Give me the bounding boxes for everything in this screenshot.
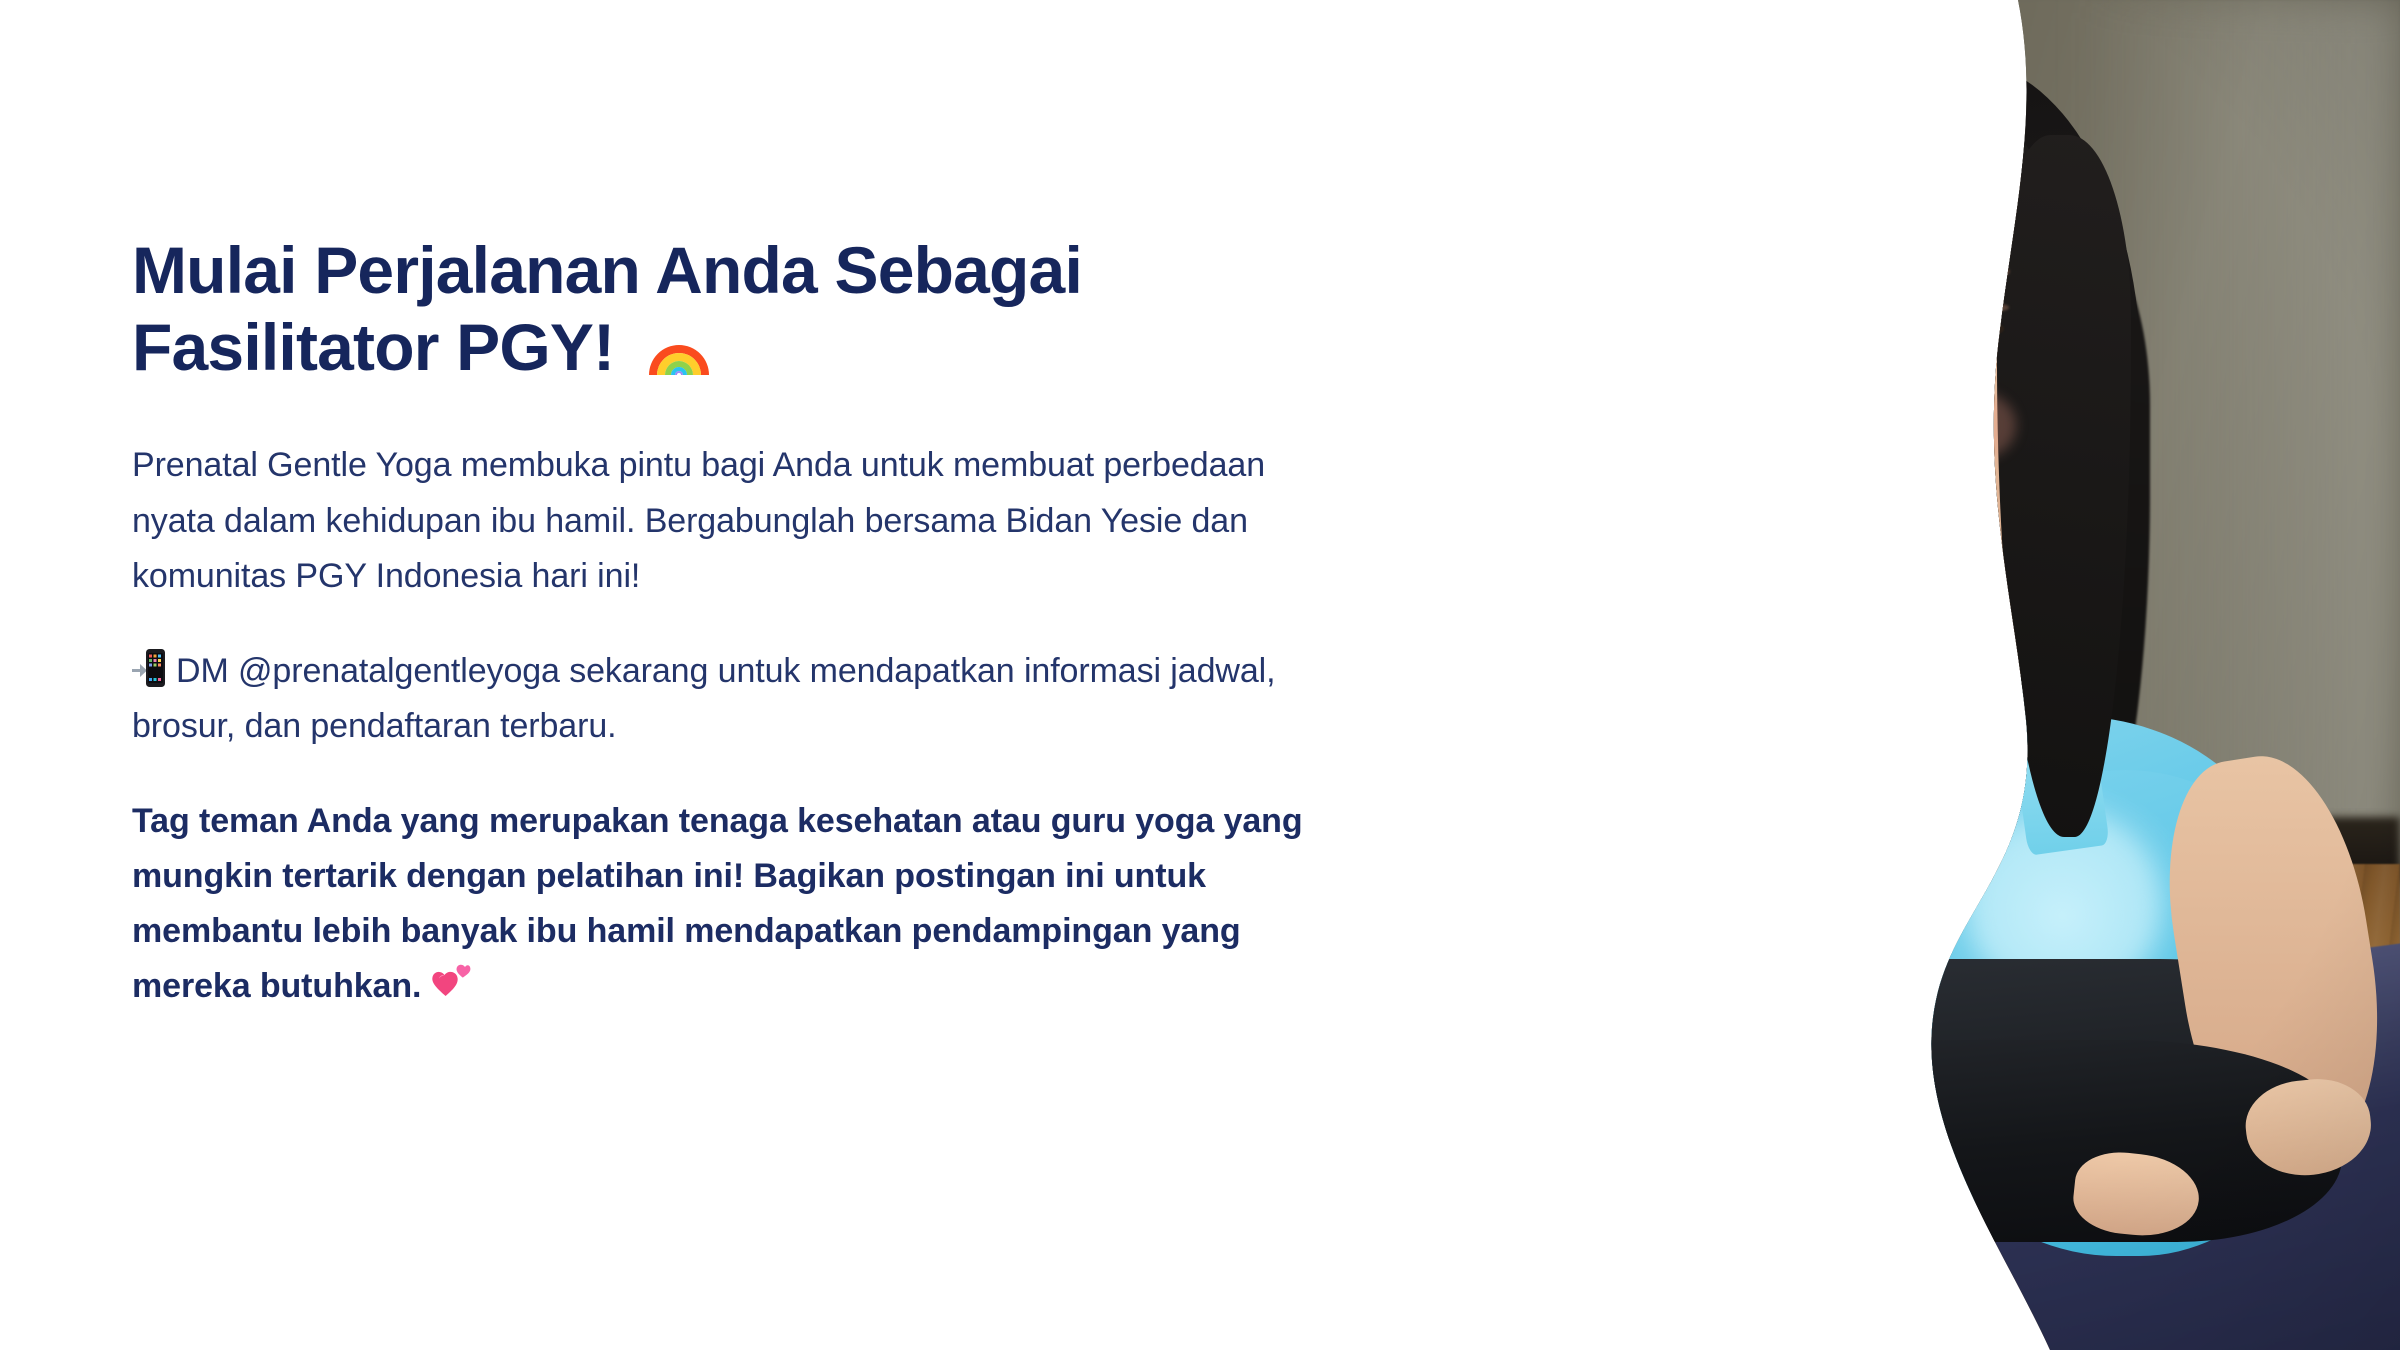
face-shadow: [1810, 163, 1883, 581]
rainbow-icon: [646, 314, 712, 366]
slide-root: Mulai Perjalanan Anda Sebagai Fasilitato…: [0, 0, 2400, 1350]
chin-shadow: [1872, 520, 1968, 561]
headline-line-1: Mulai Perjalanan Anda Sebagai: [132, 233, 1082, 307]
legging-fold: [1632, 1067, 1805, 1094]
floor-shadow-strip: [1440, 864, 2016, 910]
eyelid-right: [1950, 302, 2010, 313]
wall-shadow: [1440, 0, 1757, 851]
foot-left: [1550, 1127, 1666, 1222]
floor-shadow-strip-secondary: [1440, 952, 1805, 984]
hero-photo-panel: [1440, 0, 2400, 1350]
hand-left: [1553, 914, 1683, 1017]
paragraph-share-text: Tag teman Anda yang merupakan tenaga kes…: [132, 802, 1303, 1005]
neck: [1877, 540, 2021, 756]
nose: [1893, 365, 1931, 451]
paragraph-share: Tag teman Anda yang merupakan tenaga kes…: [132, 794, 1322, 1014]
floor-vase-secondary: [1728, 567, 1824, 837]
photo-vignette: [1440, 0, 2400, 1350]
left-shoulder: [1680, 702, 1930, 1026]
pampas-grass-icon: [1459, 0, 1901, 729]
lips: [1878, 463, 1961, 498]
photo-wave-clip: [1440, 0, 2400, 1350]
eye-left: [1846, 329, 1896, 344]
page-title: Mulai Perjalanan Anda Sebagai Fasilitato…: [132, 232, 1252, 386]
headline-line-2: Fasilitator PGY!: [132, 310, 614, 384]
lip-highlight: [1887, 467, 1925, 478]
mobile-phone-with-arrow-icon: [132, 647, 166, 689]
arm-left: [1623, 667, 1991, 952]
two-hearts-icon: [431, 963, 475, 1003]
hair-part: [1920, 97, 1932, 178]
paragraph-dm-text: DM @prenatalgentleyoga sekarang untuk me…: [132, 652, 1275, 745]
eyelid-left: [1843, 311, 1901, 322]
eyebrow-right: [1948, 263, 2010, 282]
paragraph-dm: DM @prenatalgentleyoga sekarang untuk me…: [132, 644, 1332, 754]
tank-top-neckline: [1872, 705, 2026, 800]
text-content-column: Mulai Perjalanan Anda Sebagai Fasilitato…: [132, 232, 1332, 1014]
hair-side-left: [1771, 149, 1848, 689]
paragraph-intro: Prenatal Gentle Yoga membuka pintu bagi …: [132, 438, 1332, 603]
eyebrow-left: [1838, 270, 1899, 291]
floor-vase: [1594, 540, 1719, 837]
tank-strap-left: [1802, 677, 1898, 848]
eye-right: [1953, 321, 2005, 336]
yoga-studio-scene: [1440, 0, 2400, 1350]
